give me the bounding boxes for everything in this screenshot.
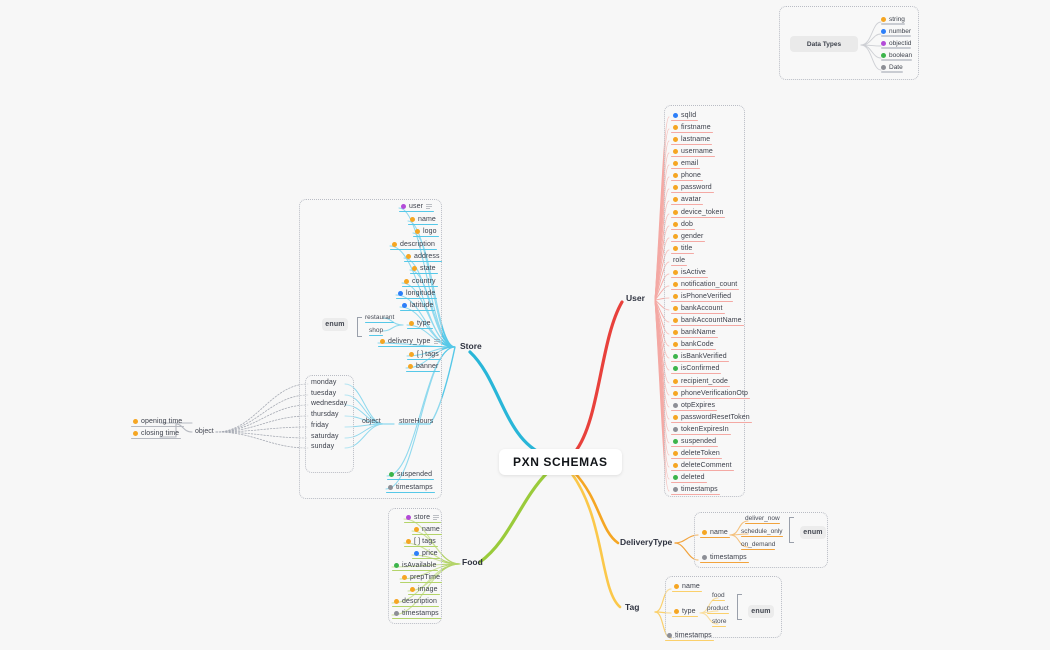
type-dot-string [673, 197, 678, 202]
field-underline [404, 546, 438, 548]
field-label: country [412, 278, 436, 285]
field-isconfirmed[interactable]: isConfirmed [671, 364, 721, 374]
legend-item-string[interactable]: string [881, 16, 905, 25]
field-label: [ ] tags [417, 351, 439, 358]
field-label: password [681, 184, 712, 191]
type-dot-string [392, 242, 397, 247]
legend-item-underline [881, 23, 905, 24]
field-label: passwordResetToken [681, 414, 750, 421]
field-country[interactable]: country [402, 277, 438, 287]
enum-value-label: schedule_only [741, 528, 783, 535]
field-label: bankAccount [681, 305, 723, 312]
field-label: dob [681, 221, 693, 228]
field-underline [410, 273, 438, 275]
field-underline [407, 328, 433, 330]
field-dob[interactable]: dob [671, 220, 695, 230]
field-label: role [673, 257, 685, 264]
field-underline [408, 594, 440, 596]
field-label: description [400, 241, 435, 248]
field-phone[interactable]: phone [671, 171, 703, 181]
field-label: lastname [681, 136, 710, 143]
enum-value-label: store [712, 618, 726, 625]
enum-value-label: food [712, 592, 725, 599]
field-label: suspended [397, 471, 432, 478]
field-label: isPhoneVerified [681, 293, 731, 300]
store-type-enum-restaurant[interactable]: restaurant [365, 314, 394, 323]
field-underline [407, 359, 441, 361]
field-label: isBankVerified [681, 353, 727, 360]
field-bankname[interactable]: bankName [671, 328, 718, 338]
type-dot-boolean [673, 366, 678, 371]
field-underline [671, 120, 698, 122]
field-label: user [409, 203, 423, 210]
field-label: price [422, 550, 438, 557]
type-dot-string [673, 294, 678, 299]
field-deletecomment[interactable]: deleteComment [671, 461, 734, 471]
field-label: image [418, 586, 438, 593]
type-dot-string [881, 17, 886, 22]
field-label: phoneVerificationOtp [681, 390, 748, 397]
type-dot-string [673, 391, 678, 396]
field-bankaccount[interactable]: bankAccount [671, 304, 725, 314]
field-label: name [710, 529, 728, 536]
field-underline [671, 313, 725, 315]
field-timestamps[interactable]: timestamps [665, 631, 714, 641]
legend-item-label: string [889, 16, 905, 23]
day-label: saturday [311, 433, 339, 440]
field-underline [131, 426, 184, 428]
field-label: opening time [141, 418, 182, 425]
field-underline [408, 224, 438, 226]
field-label: latitude [410, 302, 433, 309]
field-timestamps[interactable]: timestamps [392, 609, 441, 619]
field-underline [671, 289, 739, 291]
field-underline [671, 470, 734, 472]
mindmap-canvas: Data Types stringnumberobjectidbooleanDa… [0, 0, 1050, 650]
field-underline [386, 492, 435, 494]
legend-item-underline [881, 47, 911, 48]
deliverytype-enum-deliver-now[interactable]: deliver_now [745, 515, 780, 524]
field-label: delivery_type [388, 338, 431, 345]
branch-label-tag[interactable]: Tag [625, 602, 639, 612]
field-label: recipient_code [681, 378, 728, 385]
field-tags[interactable]: [ ] tags [407, 350, 441, 360]
type-dot-boolean [673, 354, 678, 359]
field-name[interactable]: name [408, 215, 438, 225]
enum-value-underline [707, 613, 729, 614]
field-label: timestamps [681, 486, 718, 493]
field-underline [671, 373, 721, 375]
type-dot-string [673, 463, 678, 468]
type-dot-string [408, 364, 413, 369]
field-avatar[interactable]: avatar [671, 195, 703, 205]
tag-enum-store[interactable]: store [712, 618, 726, 627]
field-underline [671, 253, 694, 255]
field-label: type [682, 608, 696, 615]
reference-icon [433, 515, 439, 520]
field-underline [671, 482, 707, 484]
field-label: type [417, 320, 431, 327]
enum-value-label: on_demand [741, 541, 775, 548]
type-dot-boolean [881, 53, 886, 58]
legend-title: Data Types [790, 36, 858, 52]
type-dot-string [406, 539, 411, 544]
day-label: tuesday [311, 390, 336, 397]
tag-enum-food[interactable]: food [712, 592, 725, 601]
enum-value-label: restaurant [365, 314, 394, 321]
field-label: bankCode [681, 341, 714, 348]
field-timestamps[interactable]: timestamps [671, 485, 720, 495]
branch-label-store[interactable]: Store [460, 341, 482, 351]
field-timestamps[interactable]: timestamps [386, 483, 435, 493]
field-underline [399, 211, 434, 213]
type-dot-string [673, 282, 678, 287]
type-dot-number [402, 303, 407, 308]
storehours-day-monday[interactable]: monday [311, 379, 337, 388]
field-name[interactable]: name [700, 528, 730, 538]
field-banner[interactable]: banner [406, 362, 440, 372]
type-dot-string [674, 584, 679, 589]
field-firstname[interactable]: firstname [671, 123, 713, 133]
field-sqlid[interactable]: sqlId [671, 111, 698, 121]
day-label: thursday [311, 411, 339, 418]
type-dot-string [406, 254, 411, 259]
field-price[interactable]: price [412, 549, 440, 559]
day-label: monday [311, 379, 337, 386]
field-isbankverified[interactable]: isBankVerified [671, 352, 729, 362]
type-dot-string [673, 330, 678, 335]
legend-item-label: boolean [889, 52, 912, 59]
field-isavailable[interactable]: isAvailable [392, 561, 438, 571]
field-label: isAvailable [402, 562, 436, 569]
type-dot-boolean [673, 439, 678, 444]
field-label: suspended [681, 438, 716, 445]
field-underline [671, 144, 712, 146]
type-dot-string [410, 587, 415, 592]
type-dot-string [673, 415, 678, 420]
field-gender[interactable]: gender [671, 232, 705, 242]
field-lastname[interactable]: lastname [671, 135, 712, 145]
field-underline [671, 241, 705, 243]
type-dot-date [702, 555, 707, 560]
type-dot-date [394, 611, 399, 616]
enum-value-underline [741, 549, 775, 550]
deliverytype-name-enum-pill[interactable]: enum [800, 526, 826, 539]
type-dot-string [673, 379, 678, 384]
enum-value-label: shop [369, 327, 383, 334]
field-label: bankAccountName [681, 317, 742, 324]
field-underline [700, 537, 730, 539]
type-dot-number [673, 113, 678, 118]
type-dot-date [673, 403, 678, 408]
field-underline [671, 277, 708, 279]
type-dot-string [673, 234, 678, 239]
type-dot-string [394, 599, 399, 604]
day-label: friday [311, 422, 329, 429]
field-suspended[interactable]: suspended [671, 437, 718, 447]
legend-item-boolean[interactable]: boolean [881, 52, 912, 61]
field-label: notification_count [681, 281, 737, 288]
legend-item-underline [881, 71, 903, 72]
field-name[interactable]: name [412, 525, 442, 535]
type-dot-string [410, 217, 415, 222]
field-isphoneverified[interactable]: isPhoneVerified [671, 292, 733, 302]
field-opening-time[interactable]: opening time [131, 417, 184, 427]
legend-data-types: Data Types stringnumberobjectidbooleanDa… [779, 6, 917, 78]
field-label: timestamps [710, 554, 747, 561]
legend-item-objectid[interactable]: objectid [881, 40, 911, 49]
type-dot-boolean [389, 472, 394, 477]
field-type[interactable]: type [407, 319, 433, 329]
field-label: timestamps [675, 632, 712, 639]
field-underline [671, 229, 695, 231]
deliverytype-enum-bracket [789, 517, 790, 543]
field-suspended[interactable]: suspended [387, 470, 434, 480]
legend-item-number[interactable]: number [881, 28, 911, 37]
tag-enum-product[interactable]: product [707, 605, 729, 614]
field-label: closing time [141, 430, 179, 437]
field-underline [671, 434, 731, 436]
type-dot-string [673, 451, 678, 456]
field-underline [665, 640, 714, 642]
field-username[interactable]: username [671, 147, 715, 157]
field-underline [671, 337, 718, 339]
type-dot-string [673, 222, 678, 227]
field-label: store [414, 514, 430, 521]
field-label: [ ] tags [414, 538, 436, 545]
field-underline [671, 192, 714, 194]
type-dot-string [404, 279, 409, 284]
field-tags[interactable]: [ ] tags [404, 537, 438, 547]
storehours-time-object-label[interactable]: object [195, 428, 214, 435]
field-label: isActive [681, 269, 706, 276]
enum-value-underline [745, 523, 780, 524]
field-label: deleteComment [681, 462, 732, 469]
field-delivery-type[interactable]: delivery_type [378, 337, 442, 347]
type-dot-date [667, 633, 672, 638]
storehours-object-label[interactable]: object [362, 418, 381, 425]
legend-item-date[interactable]: Date [881, 64, 903, 73]
reference-icon [426, 204, 432, 209]
storehours-day-sunday[interactable]: sunday [311, 443, 334, 452]
enum-value-underline [741, 536, 783, 537]
field-underline [413, 236, 439, 238]
storehours-label[interactable]: storeHours [399, 418, 433, 425]
field-label: bankName [681, 329, 716, 336]
field-label: prepTime [410, 574, 440, 581]
field-underline [700, 562, 749, 564]
type-dot-number [414, 551, 419, 556]
store-type-enum-bracket [357, 317, 358, 337]
field-underline [671, 180, 703, 182]
field-description[interactable]: description [392, 597, 439, 607]
type-dot-number [398, 291, 403, 296]
field-underline [671, 494, 720, 496]
deliverytype-enum-schedule-only[interactable]: schedule_only [741, 528, 783, 537]
branch-label-user[interactable]: User [626, 293, 645, 303]
field-underline [671, 410, 717, 412]
field-label: state [420, 265, 436, 272]
field-bankcode[interactable]: bankCode [671, 340, 716, 350]
field-underline [392, 618, 441, 620]
type-dot-date [881, 65, 886, 70]
field-label: title [681, 245, 692, 252]
field-deletetoken[interactable]: deleteToken [671, 449, 722, 459]
field-password[interactable]: password [671, 183, 714, 193]
type-dot-string [673, 270, 678, 275]
field-underline [671, 398, 750, 400]
field-label: address [414, 253, 440, 260]
tag-enum-bracket [737, 594, 738, 620]
enum-value-underline [712, 600, 725, 601]
field-label: banner [416, 363, 438, 370]
field-image[interactable]: image [408, 585, 440, 595]
field-label: name [418, 216, 436, 223]
field-label: timestamps [402, 610, 439, 617]
field-underline [404, 522, 441, 524]
field-underline [400, 582, 442, 584]
type-dot-string [673, 342, 678, 347]
field-label: sqlId [681, 112, 696, 119]
field-passwordresettoken[interactable]: passwordResetToken [671, 413, 752, 423]
field-email[interactable]: email [671, 159, 700, 169]
type-dot-string [702, 530, 707, 535]
field-store[interactable]: store [404, 513, 441, 523]
field-label: firstname [681, 124, 711, 131]
store-type-enum-pill[interactable]: enum [322, 318, 348, 331]
field-device-token[interactable]: device_token [671, 208, 725, 218]
branch-label-deliverytype[interactable]: DeliveryType [620, 537, 672, 547]
field-underline [392, 570, 438, 572]
field-otpexpires[interactable]: otpExpires [671, 401, 717, 411]
branch-label-food[interactable]: Food [462, 557, 483, 567]
field-deleted[interactable]: deleted [671, 473, 707, 483]
connector-edges [0, 0, 1050, 650]
type-dot-string [673, 173, 678, 178]
tag-type-enum-pill[interactable]: enum [748, 605, 774, 618]
type-dot-string [133, 431, 138, 436]
store-type-enum-shop[interactable]: shop [369, 327, 383, 336]
legend-item-label: objectid [889, 40, 911, 47]
deliverytype-enum-on-demand[interactable]: on_demand [741, 541, 775, 550]
field-label: logo [423, 228, 437, 235]
reference-icon [434, 339, 440, 344]
day-label: sunday [311, 443, 334, 450]
field-tokenexpiresin[interactable]: tokenExpiresIn [671, 425, 731, 435]
storehours-day-saturday[interactable]: saturday [311, 433, 339, 442]
storehours-day-friday[interactable]: friday [311, 422, 329, 431]
field-label: avatar [681, 196, 701, 203]
field-underline [671, 265, 687, 267]
storehours-day-tuesday[interactable]: tuesday [311, 390, 336, 399]
type-dot-date [388, 485, 393, 490]
legend-item-underline [881, 59, 912, 60]
field-closing-time[interactable]: closing time [131, 429, 181, 439]
field-type[interactable]: type [672, 607, 698, 617]
type-dot-string [673, 318, 678, 323]
field-user[interactable]: user [399, 202, 434, 212]
field-underline [671, 132, 713, 134]
enum-value-underline [712, 626, 726, 627]
day-label: wednesday [311, 400, 347, 407]
type-dot-string [415, 229, 420, 234]
center-node[interactable]: PXN SCHEMAS [499, 449, 622, 475]
field-underline [672, 616, 698, 618]
type-dot-date [673, 487, 678, 492]
field-bankaccountname[interactable]: bankAccountName [671, 316, 744, 326]
type-dot-string [380, 339, 385, 344]
type-dot-string [674, 609, 679, 614]
field-underline [404, 261, 442, 263]
field-address[interactable]: address [404, 252, 442, 262]
field-logo[interactable]: logo [413, 227, 439, 237]
type-dot-string [673, 306, 678, 311]
field-preptime[interactable]: prepTime [400, 573, 442, 583]
storehours-day-wednesday[interactable]: wednesday [311, 400, 347, 409]
field-underline [406, 371, 440, 373]
field-label: description [402, 598, 437, 605]
field-name[interactable]: name [672, 582, 702, 592]
field-underline [387, 479, 434, 481]
type-dot-boolean [394, 563, 399, 568]
field-label: email [681, 160, 698, 167]
field-label: name [682, 583, 700, 590]
field-underline [671, 325, 744, 327]
field-label: isConfirmed [681, 365, 719, 372]
field-underline [671, 422, 752, 424]
field-notification-count[interactable]: notification_count [671, 280, 739, 290]
field-label: timestamps [396, 484, 433, 491]
field-underline [671, 458, 722, 460]
enum-value-underline [365, 322, 394, 323]
field-title[interactable]: title [671, 244, 694, 254]
field-phoneverificationotp[interactable]: phoneVerificationOtp [671, 389, 750, 399]
field-label: phone [681, 172, 701, 179]
field-underline [671, 156, 715, 158]
field-underline [396, 298, 437, 300]
field-state[interactable]: state [410, 264, 438, 274]
field-latitude[interactable]: latitude [400, 301, 435, 311]
field-description[interactable]: description [390, 240, 437, 250]
type-dot-objectid [401, 204, 406, 209]
type-dot-string [673, 185, 678, 190]
field-underline [671, 204, 703, 206]
type-dot-string [409, 352, 414, 357]
field-label: username [681, 148, 713, 155]
type-dot-string [412, 266, 417, 271]
field-underline [402, 286, 438, 288]
type-dot-number [881, 29, 886, 34]
field-label: otpExpires [681, 402, 715, 409]
field-isactive[interactable]: isActive [671, 268, 708, 278]
field-underline [671, 217, 725, 219]
field-underline [671, 301, 733, 303]
field-underline [671, 446, 718, 448]
field-underline [392, 606, 439, 608]
storehours-day-thursday[interactable]: thursday [311, 411, 339, 420]
field-label: deleted [681, 474, 705, 481]
field-role[interactable]: role [671, 256, 687, 266]
field-longitude[interactable]: longitude [396, 289, 437, 299]
field-label: device_token [681, 209, 723, 216]
type-dot-string [673, 246, 678, 251]
type-dot-string [402, 575, 407, 580]
type-dot-string [673, 125, 678, 130]
field-timestamps[interactable]: timestamps [700, 553, 749, 563]
field-label: gender [681, 233, 703, 240]
field-underline [671, 386, 730, 388]
field-recipient-code[interactable]: recipient_code [671, 377, 730, 387]
